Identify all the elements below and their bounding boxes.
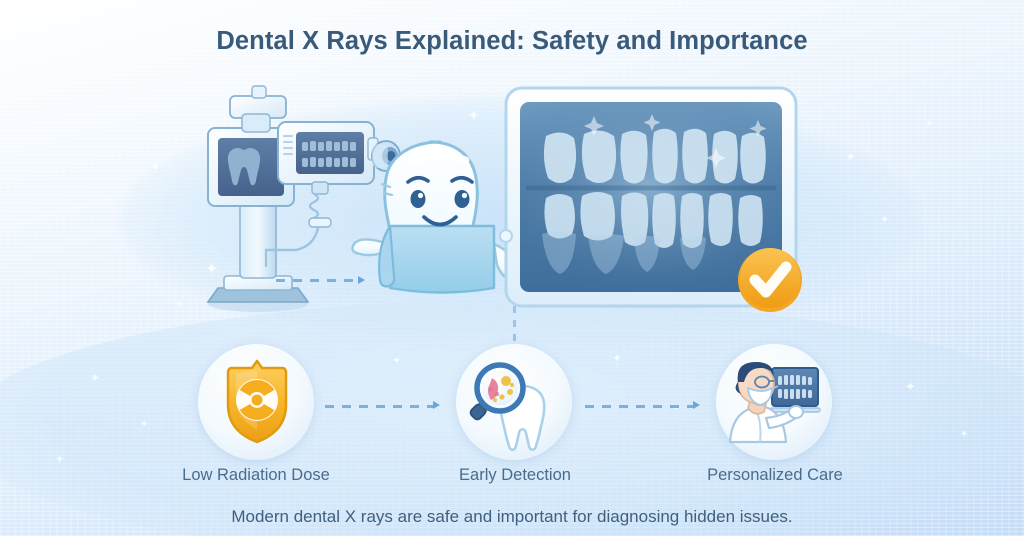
sparkle-star: ✦	[175, 300, 183, 310]
sparkle-star: ✦	[468, 108, 480, 122]
connector-feature-2-to-3-arrowhead	[693, 401, 700, 409]
sparkle-star: ✦	[845, 150, 856, 163]
sparkle-star: ✦	[612, 352, 622, 364]
sparkle-star: ✦	[905, 380, 916, 393]
sparkle-star: ✦	[925, 120, 933, 130]
feature-label-personalized-care: Personalized Care	[645, 466, 905, 485]
connector-panel-to-detection	[513, 306, 516, 348]
summary-caption: Modern dental X rays are safe and import…	[0, 507, 1024, 527]
panoramic-x-ray-film	[502, 84, 802, 316]
sparkle-star: ✦	[150, 160, 161, 173]
sparkle-star: ✦	[90, 372, 100, 384]
infographic-canvas: ✦ ✦ ✦ ✦ ✦ ✦ ✦ ✦ ✦ ✦ ✦ ✦ ✦ ✦ ✦ ✦ ✦ Dental…	[0, 0, 1024, 536]
sparkle-star: ✦	[140, 420, 148, 430]
sparkle-star: ✦	[960, 430, 968, 440]
connector-feature-2-to-3	[585, 405, 693, 408]
radiation-shield-icon	[222, 358, 292, 444]
connector-feature-1-to-2-arrowhead	[433, 401, 440, 409]
page-title: Dental X Rays Explained: Safety and Impo…	[0, 27, 1024, 56]
connector-feature-1-to-2	[325, 405, 433, 408]
sparkle-star: ✦	[392, 356, 401, 367]
feature-label-low-radiation-dose: Low Radiation Dose	[126, 466, 386, 485]
magnifier-tooth-icon	[466, 356, 562, 448]
approved-check-badge	[738, 248, 802, 312]
sparkle-star: ✦	[55, 455, 64, 466]
sparkle-star: ✦	[880, 215, 889, 226]
feature-label-early-detection: Early Detection	[385, 466, 645, 485]
dentist-reviewing-xray-icon	[726, 358, 822, 444]
